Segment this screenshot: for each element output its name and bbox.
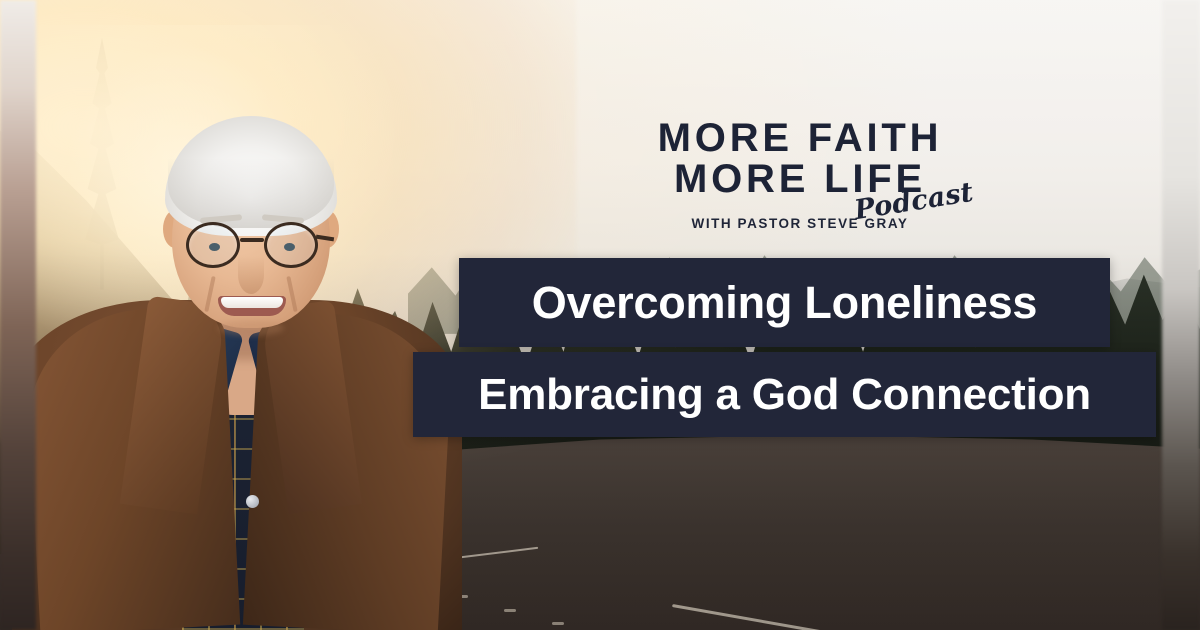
episode-title-bar-2: Embracing a God Connection xyxy=(413,352,1156,437)
frame-edge-left xyxy=(0,0,36,630)
mouth xyxy=(218,296,286,316)
eye-right xyxy=(284,243,295,251)
white-lane-line xyxy=(672,604,1145,630)
episode-title-line-1: Overcoming Loneliness xyxy=(532,277,1037,329)
logo-line-2: MORE LIFE Podcast xyxy=(640,159,960,200)
podcast-cover-image: MORE FAITH MORE LIFE Podcast WITH PASTOR… xyxy=(0,0,1200,630)
frame-edge-right xyxy=(1162,0,1200,630)
eyeglasses-icon xyxy=(186,222,318,268)
road-dash xyxy=(504,609,516,612)
episode-title-line-2: Embracing a God Connection xyxy=(478,370,1091,420)
episode-title-bar-1: Overcoming Loneliness xyxy=(459,258,1110,347)
teeth xyxy=(221,297,283,308)
podcast-logo: MORE FAITH MORE LIFE Podcast WITH PASTOR… xyxy=(640,118,960,231)
road-dash xyxy=(552,622,564,625)
chin-shadow xyxy=(218,320,284,336)
lens-right xyxy=(264,222,318,268)
eye-left xyxy=(209,243,220,251)
host-portrait xyxy=(22,70,452,630)
lens-left xyxy=(186,222,240,268)
logo-line-1: MORE FAITH xyxy=(640,118,960,159)
shirt-button xyxy=(246,495,259,508)
glasses-bridge xyxy=(240,238,264,242)
logo-subtitle: WITH PASTOR STEVE GRAY xyxy=(640,216,960,231)
hair-shadow xyxy=(168,158,334,228)
